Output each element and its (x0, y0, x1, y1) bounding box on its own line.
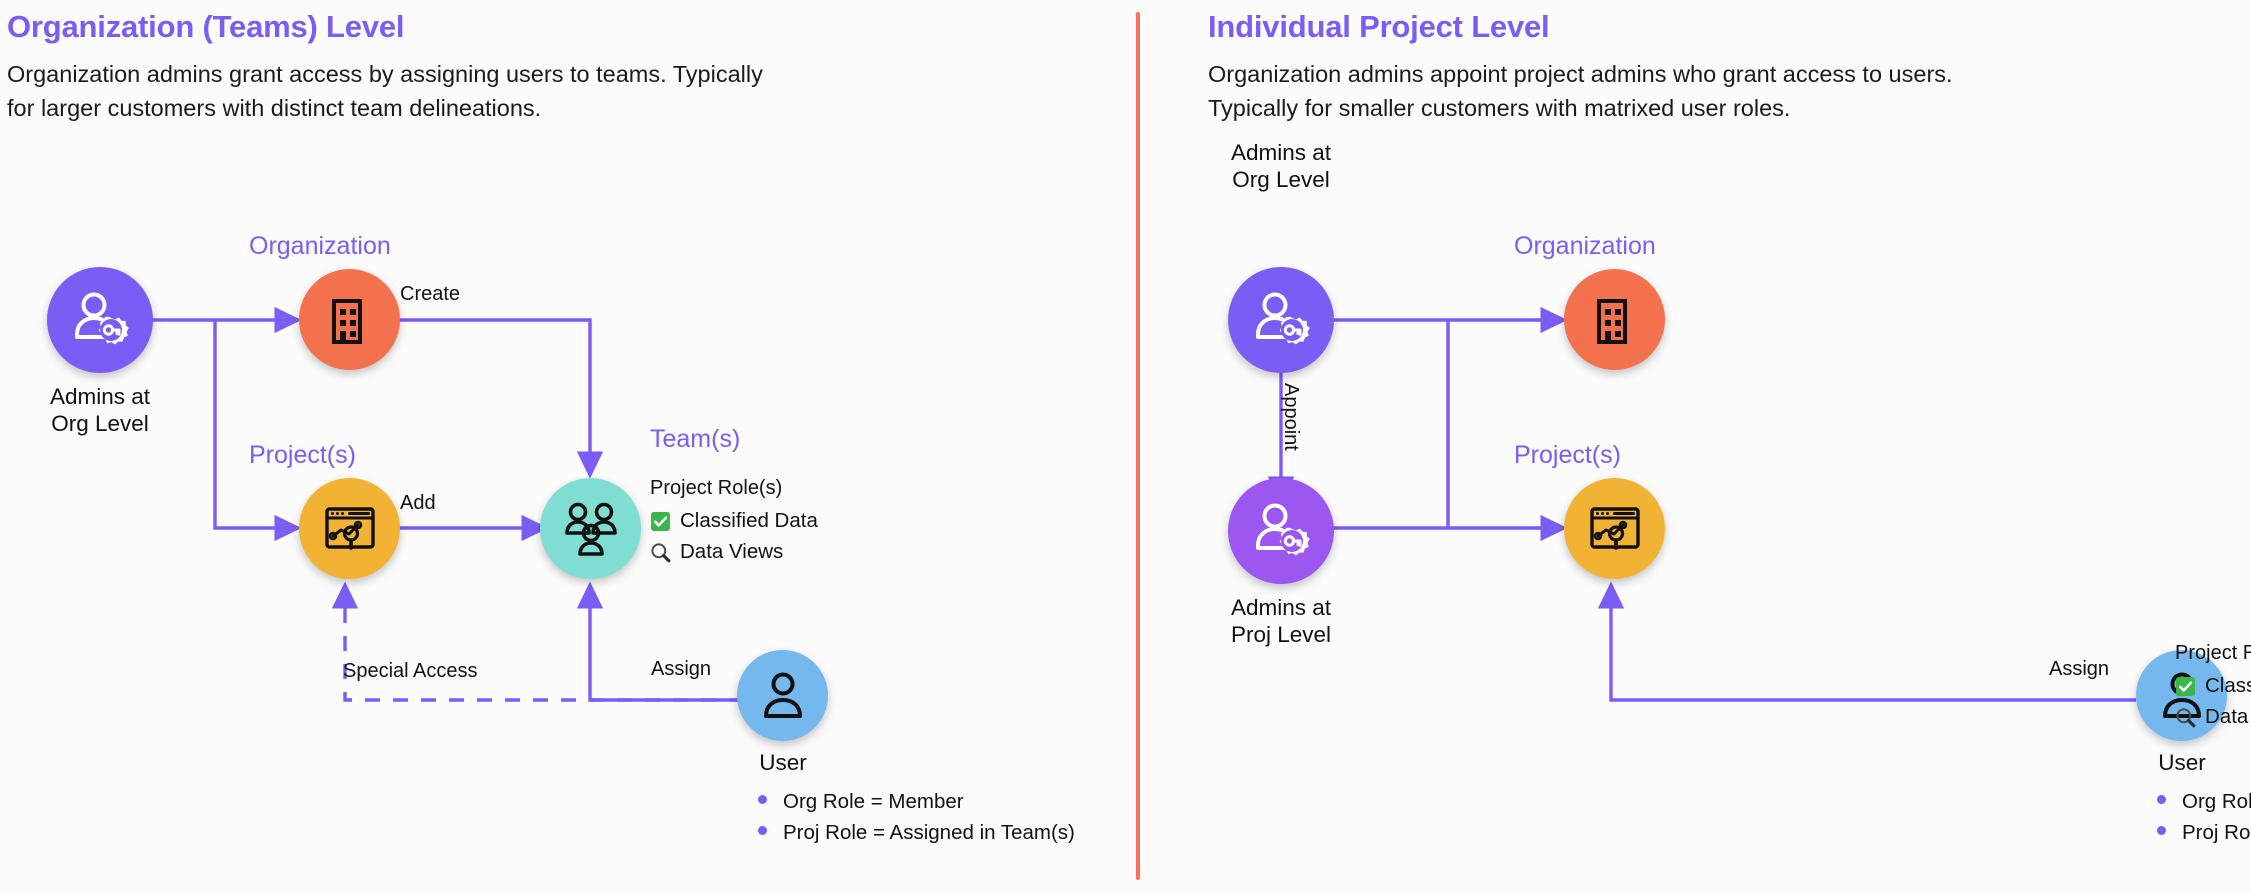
left-connectors (0, 0, 1136, 893)
left-user-node[interactable] (737, 650, 828, 741)
bullet-dot-icon (2157, 826, 2166, 835)
right-role-classified-data-label: Classified Data (2205, 674, 2251, 698)
right-role-data-views: Data Views (2175, 705, 2251, 729)
left-organization-label: Organization (249, 232, 391, 261)
left-role-classified-data-label: Classified Data (680, 509, 818, 533)
left-role-classified-data: Classified Data (650, 509, 818, 533)
left-user-role-0: Org Role = Member (783, 786, 964, 817)
check-box-icon (2175, 676, 2196, 697)
left-admins-org-caption: Admins at Org Level (8, 383, 192, 437)
left-user-role-1: Proj Role = Assigned in Team(s) (783, 817, 1075, 848)
bullet-dot-icon (758, 795, 767, 804)
left-edge-label-special-access: Special Access (343, 660, 478, 683)
left-project-node[interactable] (299, 478, 400, 579)
right-role-classified-data: Classified Data (2175, 674, 2251, 698)
check-box-icon (650, 511, 671, 532)
dashboard-analytics-icon (321, 500, 379, 558)
person-icon (759, 670, 807, 722)
right-project-label: Project(s) (1514, 441, 1621, 470)
bullet-item: Proj Role = Assigned in Project(s) (2157, 817, 2251, 848)
left-project-label: Project(s) (249, 441, 356, 470)
left-organization-node[interactable] (299, 269, 400, 370)
admin-gear-key-icon (1249, 288, 1313, 352)
bullet-dot-icon (2157, 795, 2166, 804)
right-user-role-0: Org Role = Member (2182, 786, 2251, 817)
admin-gear-key-icon (1249, 499, 1313, 563)
left-project-roles-title: Project Role(s) (650, 477, 818, 500)
left-edge-label-assign: Assign (651, 658, 711, 681)
left-edge-label-add: Add (400, 492, 436, 515)
left-role-data-views: Data Views (650, 540, 818, 564)
diagram-page: Organization (Teams) Level Organization … (0, 0, 2251, 893)
right-admins-org-node[interactable] (1228, 267, 1334, 373)
organization-teams-level-panel: Organization (Teams) Level Organization … (0, 0, 1136, 893)
magnifier-icon (650, 542, 671, 563)
admin-gear-key-icon (68, 288, 132, 352)
right-user-role-1: Proj Role = Assigned in Project(s) (2182, 817, 2251, 848)
right-organization-label: Organization (1514, 232, 1656, 261)
bullet-item: Org Role = Member (758, 786, 1075, 817)
individual-project-level-panel: Individual Project Level Organization ad… (1136, 0, 2251, 893)
dashboard-analytics-icon (1586, 500, 1644, 558)
bullet-item: Proj Role = Assigned in Team(s) (758, 817, 1075, 848)
right-project-node[interactable] (1564, 478, 1665, 579)
bullet-item: Org Role = Member (2157, 786, 2251, 817)
right-admins-proj-caption: Admins at Proj Level (1188, 594, 1374, 648)
left-team-node[interactable] (540, 478, 641, 579)
right-project-roles-title: Project Role(s) (2175, 642, 2251, 665)
left-user-roles: Org Role = Member Proj Role = Assigned i… (758, 786, 1075, 848)
right-user-roles: Org Role = Member Proj Role = Assigned i… (2157, 786, 2251, 848)
right-user-caption: User (2126, 749, 2238, 776)
left-team-label: Team(s) (650, 425, 740, 454)
right-admins-org-caption: Admins at Org Level (1188, 139, 1374, 193)
right-role-data-views-label: Data Views (2205, 705, 2251, 729)
left-user-caption: User (727, 749, 839, 776)
magnifier-icon (2175, 707, 2196, 728)
right-project-roles: Project Role(s) Classified Data Data Vie… (2175, 642, 2251, 736)
right-admins-proj-node[interactable] (1228, 478, 1334, 584)
right-organization-node[interactable] (1564, 269, 1665, 370)
left-edge-label-create: Create (400, 283, 460, 306)
right-edge-label-assign: Assign (2049, 658, 2109, 681)
bullet-dot-icon (758, 826, 767, 835)
right-connectors (1136, 0, 2251, 893)
people-group-icon (560, 500, 622, 558)
right-edge-label-appoint: Appoint (1279, 383, 1302, 451)
building-icon (1589, 294, 1641, 346)
building-icon (324, 294, 376, 346)
left-project-roles: Project Role(s) Classified Data Data Vie… (650, 477, 818, 571)
left-admins-org-node[interactable] (47, 267, 153, 373)
left-role-data-views-label: Data Views (680, 540, 783, 564)
